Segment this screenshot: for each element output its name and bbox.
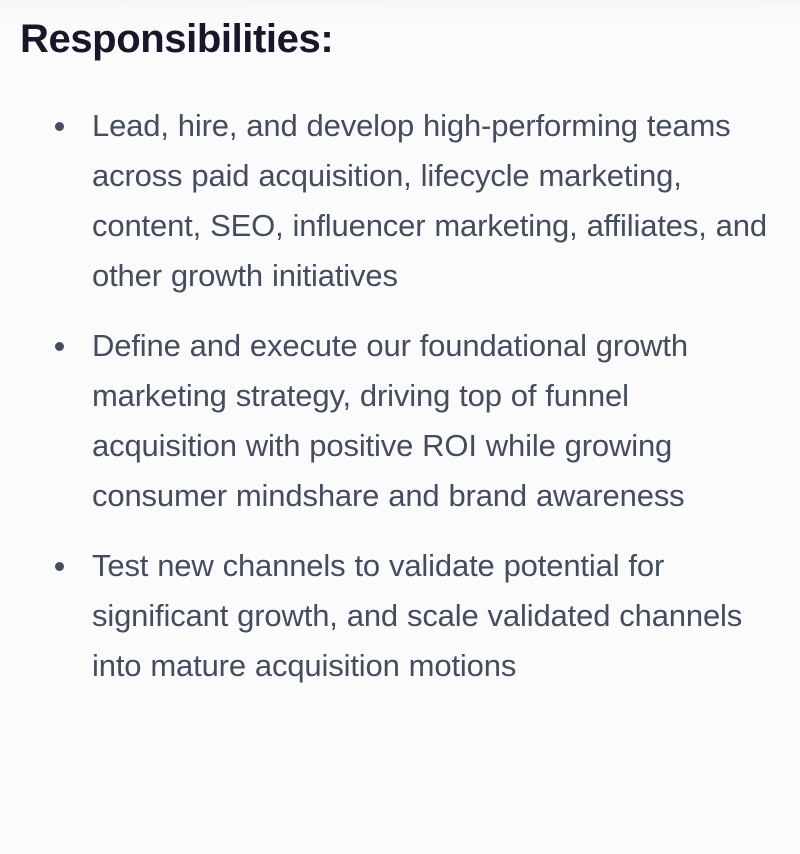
list-item-text: Test new channels to validate potential … (92, 541, 768, 691)
page-title: Responsibilities: (20, 14, 333, 64)
list-item-text: Define and execute our foundational grow… (92, 321, 768, 521)
disc-bullet-icon (55, 342, 64, 351)
responsibilities-list: Lead, hire, and develop high-performing … (0, 101, 800, 691)
list-item: Lead, hire, and develop high-performing … (0, 101, 800, 301)
job-description-page: Responsibilities: Lead, hire, and develo… (0, 0, 800, 854)
disc-bullet-icon (55, 562, 64, 571)
disc-bullet-icon (55, 122, 64, 131)
list-item: Test new channels to validate potential … (0, 541, 800, 691)
list-item-text: Lead, hire, and develop high-performing … (92, 101, 768, 301)
list-item: Define and execute our foundational grow… (0, 321, 800, 521)
